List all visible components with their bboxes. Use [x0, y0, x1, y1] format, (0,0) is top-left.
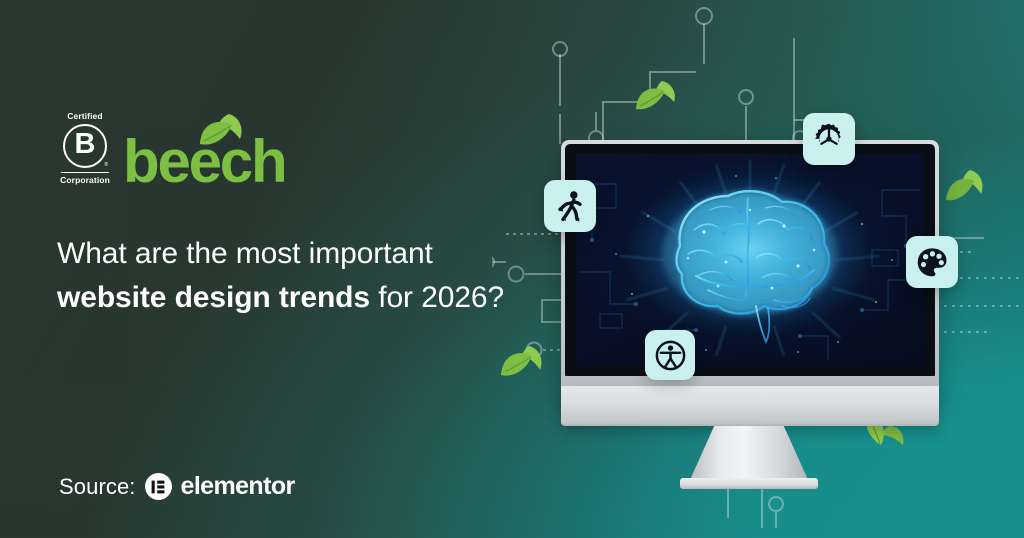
feature-tile-running-person[interactable] — [544, 180, 596, 232]
monitor-screen-frame — [565, 144, 935, 376]
leaf-decor-upper-right — [944, 168, 988, 208]
monitor-chin — [561, 386, 939, 426]
bcorp-ring: B — [63, 124, 107, 168]
headline-line-2-tail: for 2026? — [370, 281, 504, 314]
bcorp-certification-mark: Certified B ® Corporation — [57, 112, 113, 188]
brand-logo[interactable]: Certified B ® Corporation beech — [57, 112, 285, 188]
digital-brain-graphic — [576, 154, 924, 366]
bcorp-corporation-label: Corporation — [57, 176, 113, 185]
source-name: elementor — [181, 472, 295, 501]
brand-wordmark: beech — [123, 138, 285, 188]
elementor-logo-icon — [145, 473, 172, 500]
content-column: Certified B ® Corporation beech What are… — [0, 0, 520, 538]
bcorp-registered-mark: ® — [104, 162, 108, 168]
monitor-illustration — [561, 140, 939, 440]
source-attribution: Source: elementor — [59, 472, 295, 501]
feature-tile-palette[interactable] — [906, 236, 958, 288]
accessibility-icon — [654, 339, 687, 372]
bcorp-letter-b: B — [75, 130, 96, 159]
monitor-bezel — [561, 140, 939, 392]
source-label: Source: — [59, 474, 136, 500]
leaf-decor-upper-left — [632, 78, 680, 120]
running-person-icon — [553, 189, 587, 223]
elementor-glyph — [150, 479, 166, 495]
circuit-trace-top — [500, 0, 840, 144]
page-title: What are the most important website desi… — [57, 232, 507, 321]
promo-card-canvas: Certified B ® Corporation beech What are… — [0, 0, 1024, 538]
headline-line-2: website design trends for 2026? — [57, 276, 507, 320]
gear-icon — [812, 122, 846, 156]
bcorp-certified-label: Certified — [57, 112, 113, 121]
headline-emphasis: website design trends — [57, 281, 370, 314]
monitor-stand-base — [680, 478, 818, 489]
feature-tile-gear[interactable] — [803, 113, 855, 165]
monitor-stand-neck — [689, 426, 809, 482]
feature-tile-accessibility[interactable] — [645, 330, 695, 380]
headline-line-1: What are the most important — [57, 232, 507, 276]
palette-icon — [915, 245, 949, 279]
bcorp-divider — [61, 172, 109, 174]
monitor-screen — [576, 154, 924, 366]
